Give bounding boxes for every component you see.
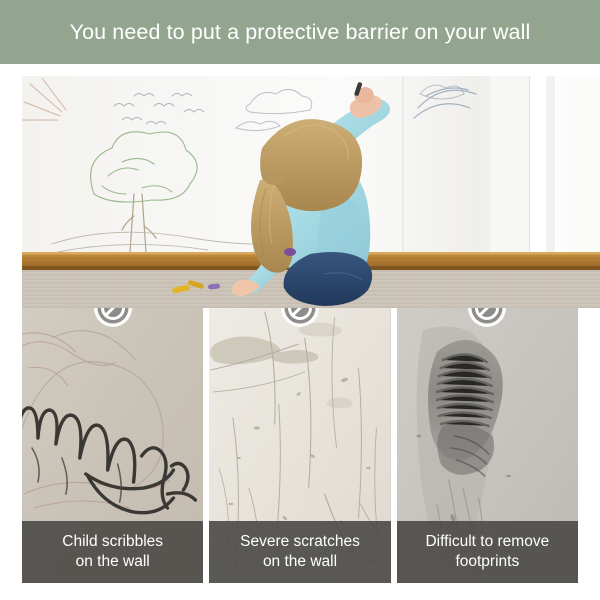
caption-line-1: Severe scratches bbox=[240, 532, 360, 552]
product-banner: You need to put a protective barrier on … bbox=[0, 0, 600, 600]
hero-image bbox=[22, 76, 600, 308]
panel-child-scribbles[interactable]: Child scribbles on the wall bbox=[22, 308, 203, 583]
caption-line-1: Difficult to remove bbox=[425, 532, 549, 552]
problem-panels: Child scribbles on the wall bbox=[22, 308, 578, 583]
page-title: You need to put a protective barrier on … bbox=[70, 20, 531, 44]
panel-caption: Severe scratches on the wall bbox=[209, 521, 390, 583]
caption-line-2: on the wall bbox=[263, 552, 337, 572]
caption-line-2: on the wall bbox=[76, 552, 150, 572]
caption-line-1: Child scribbles bbox=[62, 532, 163, 552]
panel-severe-scratches[interactable]: Severe scratches on the wall bbox=[209, 308, 390, 583]
panel-footprints[interactable]: Difficult to remove footprints bbox=[397, 308, 578, 583]
header-band: You need to put a protective barrier on … bbox=[0, 0, 600, 64]
panel-caption: Difficult to remove footprints bbox=[397, 521, 578, 583]
child-drawing-on-wall-photo bbox=[22, 76, 600, 308]
caption-line-2: footprints bbox=[455, 552, 519, 572]
panel-caption: Child scribbles on the wall bbox=[22, 521, 203, 583]
